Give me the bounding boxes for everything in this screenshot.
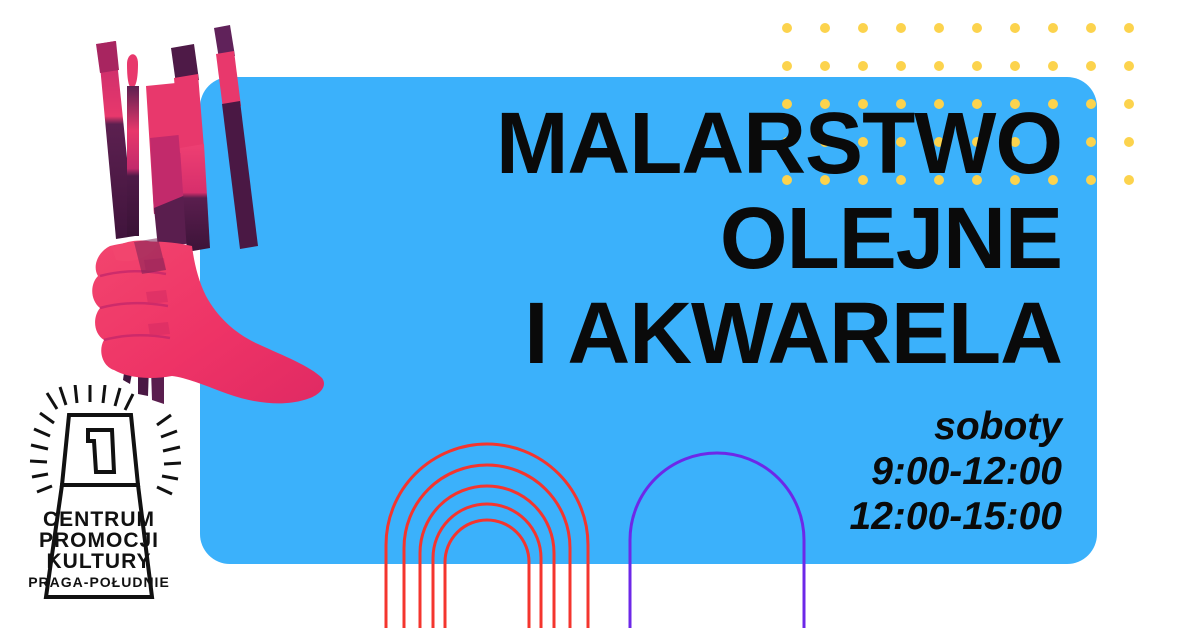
logo-text-line-3: KULTURY <box>47 550 152 573</box>
logo-text-line-1: CENTRUM <box>43 508 155 531</box>
hand-holding-paintbrushes <box>88 8 358 428</box>
logo-text-line-4: PRAGA-POŁUDNIE <box>28 574 170 590</box>
headline-line-1: MALARSTWO <box>300 96 1062 191</box>
headline-line-3: I AKWARELA <box>300 286 1062 381</box>
schedule-block: soboty 9:00-12:00 12:00-15:00 <box>700 404 1062 539</box>
lamp-icon <box>62 415 138 485</box>
poster-canvas: MALARSTWO OLEJNE I AKWARELA soboty 9:00-… <box>0 0 1200 628</box>
schedule-slot-1: 9:00-12:00 <box>700 449 1062 494</box>
paintbrush-5 <box>214 25 258 249</box>
page-title: MALARSTWO OLEJNE I AKWARELA <box>300 96 1062 381</box>
paintbrush-2 <box>127 54 139 236</box>
logo-text-line-2: PROMOCJI <box>39 529 159 552</box>
headline-line-2: OLEJNE <box>300 191 1062 286</box>
logo-wordmark: CENTRUM PROMOCJI KULTURY PRAGA-POŁUDNIE <box>28 508 170 590</box>
schedule-slot-2: 12:00-15:00 <box>700 494 1062 539</box>
schedule-day: soboty <box>700 404 1062 449</box>
centrum-promocji-kultury-logo[interactable]: CENTRUM PROMOCJI KULTURY PRAGA-POŁUDNIE <box>26 385 186 600</box>
